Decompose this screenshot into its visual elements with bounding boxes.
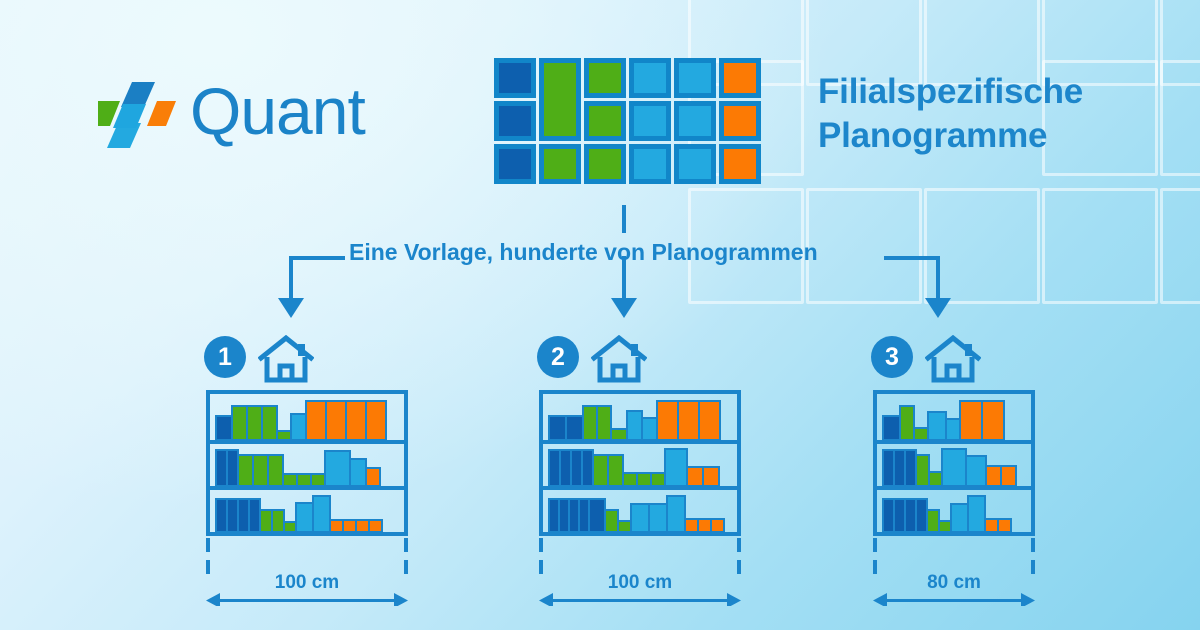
background-square [924,188,1040,304]
arrow-head-1-icon [278,298,304,318]
planogram-cell[interactable] [719,144,761,184]
store-number-badge[interactable]: 2 [537,336,579,378]
planogram-cell-fill [544,63,576,136]
planogram-cell[interactable] [719,58,761,98]
store-number-badge[interactable]: 3 [871,336,913,378]
planogram-cell-fill [589,106,621,136]
store-block: 380 cm [871,336,1037,611]
background-square [806,188,922,304]
shelf-rack[interactable] [871,388,1037,560]
master-planogram-grid[interactable] [494,58,761,184]
connector-horizontal-left [289,256,345,260]
planogram-cell-fill [589,149,621,179]
planogram-cell[interactable] [494,58,536,98]
arrow-head-2-icon [611,298,637,318]
house-icon [258,335,314,383]
connector-horizontal-right [884,256,940,260]
store-header: 2 [537,336,743,388]
planogram-cell-fill [499,63,531,93]
planogram-cell-fill [679,63,711,93]
planogram-cell-fill [724,63,756,93]
planogram-cell-fill [724,106,756,136]
shelf-rack[interactable] [537,388,743,560]
planogram-cell-fill [544,149,576,179]
caption-text: Eine Vorlage, hunderte von Planogrammen [349,239,818,266]
store-block: 1100 cm [204,336,410,611]
house-icon [925,335,981,383]
headline-line-1: Filialspezifische [818,70,1148,114]
planogram-cell[interactable] [584,144,626,184]
planogram-cell-fill [589,63,621,93]
page-title: Filialspezifische Planogramme [818,70,1148,158]
connector-stem-vertical [622,205,626,233]
quant-pinwheel-logo-icon [98,82,176,148]
planogram-cell-fill [634,63,666,93]
rack-dimension: 80 cm [871,560,1037,611]
headline-line-2: Planogramme [818,114,1148,158]
planogram-cell-fill [679,149,711,179]
store-number-badge[interactable]: 1 [204,336,246,378]
background-square [1160,188,1200,304]
planogram-cell[interactable] [539,58,581,141]
quant-logo[interactable]: Quant [98,78,398,156]
planogram-cell[interactable] [494,101,536,141]
planogram-cell[interactable] [494,144,536,184]
planogram-cell[interactable] [539,144,581,184]
planogram-cell-fill [679,106,711,136]
shelf-rack[interactable] [204,388,410,560]
planogram-cell-fill [499,149,531,179]
background-square [1160,60,1200,176]
planogram-cell[interactable] [719,101,761,141]
background-square [1042,188,1158,304]
rack-width-label: 100 cm [204,572,410,594]
planogram-cell[interactable] [674,101,716,141]
rack-width-label: 80 cm [871,572,1037,594]
planogram-cell[interactable] [674,58,716,98]
planogram-cell[interactable] [584,58,626,98]
connector-branch-1 [289,256,293,300]
brand-name: Quant [190,72,365,150]
background-square [1160,0,1200,86]
rack-dimension: 100 cm [204,560,410,611]
rack-width-label: 100 cm [537,572,743,594]
planogram-cell[interactable] [629,101,671,141]
planogram-cell-fill [724,149,756,179]
house-icon [591,335,647,383]
store-block: 2100 cm [537,336,743,611]
connector-branch-3 [936,256,940,300]
store-header: 3 [871,336,1037,388]
arrow-head-3-icon [925,298,951,318]
planogram-cell-fill [499,106,531,136]
store-header: 1 [204,336,410,388]
rack-dimension: 100 cm [537,560,743,611]
planogram-cell[interactable] [629,58,671,98]
planogram-cell[interactable] [674,144,716,184]
planogram-cell-fill [634,149,666,179]
planogram-cell[interactable] [584,101,626,141]
planogram-cell[interactable] [629,144,671,184]
planogram-cell-fill [634,106,666,136]
infographic-canvas: Quant Filialspezifische Planogramme Eine… [0,0,1200,630]
